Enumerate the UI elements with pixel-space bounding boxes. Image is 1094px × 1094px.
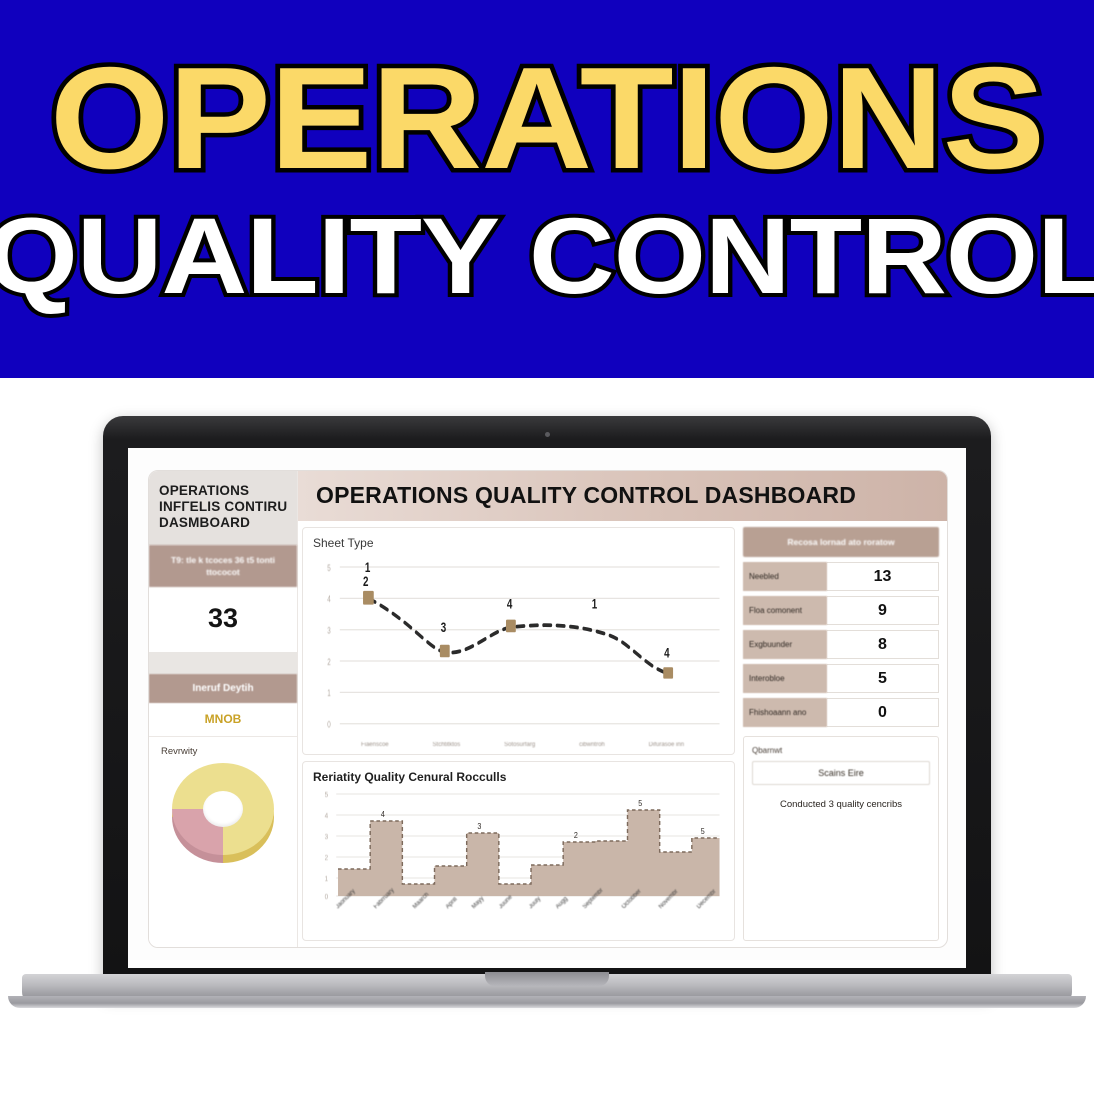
laptop-lid: OPERATIONS INFΓELIS CONTIRU DASMBOARD T9…: [103, 416, 991, 996]
x-tick: cibwntroh: [579, 742, 605, 748]
svg-text:4: 4: [381, 810, 385, 819]
metric-row[interactable]: Floa comonent 9: [743, 596, 939, 625]
dashboard-sidebar: OPERATIONS INFΓELIS CONTIRU DASMBOARD T9…: [149, 471, 298, 947]
area-chart-card[interactable]: Reriatity Quality Cenural Rocculls: [302, 761, 735, 941]
svg-text:2: 2: [325, 855, 329, 862]
donut-chart-title: Revrwity: [149, 737, 297, 759]
area-chart-title: Reriatity Quality Cenural Rocculls: [313, 770, 724, 784]
x-tick: Sotosurfarg: [504, 742, 535, 748]
laptop-mockup: OPERATIONS INFΓELIS CONTIRU DASMBOARD T9…: [0, 378, 1094, 1094]
metric-label: Floa comonent: [743, 596, 827, 625]
charts-column: Sheet Type: [298, 521, 741, 947]
metric-value: 5: [827, 664, 939, 693]
svg-text:1: 1: [592, 596, 598, 612]
dashboard-main: OPERATIONS QUALITY CONTROL DASHBOARD She…: [298, 471, 947, 947]
x-tick: Difurasoe inn: [649, 742, 684, 748]
laptop-notch: [485, 972, 609, 986]
donut-chart[interactable]: [149, 759, 297, 947]
sidebar-sub-value: MNOB: [149, 703, 297, 737]
svg-text:0: 0: [325, 894, 329, 901]
metric-row[interactable]: Neebled 13: [743, 562, 939, 591]
banner-headline-secondary: QUALITY CONTROL: [0, 202, 1094, 310]
svg-text:4: 4: [327, 594, 331, 604]
svg-text:5: 5: [325, 792, 329, 799]
x-tick: Stchtitktos: [433, 742, 461, 748]
line-chart-x-labels: Fiaenscoe Stchtitktos Sotosurfarg cibwnt…: [313, 740, 724, 748]
svg-text:3: 3: [441, 620, 447, 636]
area-chart-plot[interactable]: 5 4 3 2 1 0: [313, 786, 724, 906]
metric-value: 8: [827, 630, 939, 659]
svg-text:5: 5: [701, 827, 705, 836]
dashboard-window: OPERATIONS INFΓELIS CONTIRU DASMBOARD T9…: [148, 470, 948, 948]
scan-button[interactable]: Scains Eire: [752, 761, 930, 785]
svg-text:2: 2: [574, 831, 578, 840]
metric-row[interactable]: Fhishoaann ano 0: [743, 698, 939, 727]
metric-label: Interobloe: [743, 664, 827, 693]
area-chart-x-labels: Jaonuary Fabrruary Maarch Aprill Mayy Ju…: [313, 906, 724, 934]
line-chart-title: Sheet Type: [313, 536, 724, 550]
donut-chart-hole: [203, 791, 243, 827]
observation-note: Conducted 3 quality cencribs: [752, 799, 930, 810]
svg-text:2: 2: [363, 573, 369, 589]
svg-text:0: 0: [327, 719, 330, 729]
metric-row[interactable]: Exgbuunder 8: [743, 630, 939, 659]
banner-headline-primary: OPERATIONS: [0, 46, 1094, 191]
svg-text:1: 1: [327, 688, 330, 698]
page-title: OPERATIONS QUALITY CONTROL DASHBOARD: [316, 482, 947, 509]
metric-value: 13: [827, 562, 939, 591]
laptop-base: [22, 974, 1072, 1004]
observation-label: Qbarnwt: [752, 746, 930, 755]
svg-text:4: 4: [325, 813, 329, 820]
title-banner: OPERATIONS QUALITY CONTROL: [0, 0, 1094, 378]
metrics-panel-header: Recosa lornad ato roratow: [743, 527, 939, 557]
metric-value: 0: [827, 698, 939, 727]
svg-text:1: 1: [325, 876, 329, 883]
sidebar-divider: [149, 652, 297, 674]
laptop-screen: OPERATIONS INFΓELIS CONTIRU DASMBOARD T9…: [128, 448, 966, 968]
x-tick: Fiaenscoe: [361, 742, 389, 748]
observation-card: Qbarnwt Scains Eire Conducted 3 quality …: [743, 736, 939, 941]
metric-row[interactable]: Interobloe 5: [743, 664, 939, 693]
metric-value: 9: [827, 596, 939, 625]
metric-label: Exgbuunder: [743, 630, 827, 659]
sidebar-section-header: Ineruf Deytih: [149, 674, 297, 703]
sidebar-title: OPERATIONS INFΓELIS CONTIRU DASMBOARD: [149, 471, 297, 545]
svg-text:3: 3: [327, 625, 330, 635]
svg-text:5: 5: [327, 563, 330, 573]
svg-text:4: 4: [507, 596, 513, 612]
svg-text:4: 4: [664, 645, 670, 661]
svg-text:3: 3: [325, 834, 329, 841]
line-chart-card[interactable]: Sheet Type: [302, 527, 735, 755]
svg-text:2: 2: [327, 657, 330, 667]
metric-label: Neebled: [743, 562, 827, 591]
line-chart-plot[interactable]: 5 4 3 2 1 0: [313, 552, 724, 740]
dashboard-header: OPERATIONS QUALITY CONTROL DASHBOARD: [298, 471, 947, 521]
metrics-column: Recosa lornad ato roratow Neebled 13 Flo…: [741, 521, 947, 947]
sidebar-kpi-value: 33: [149, 587, 297, 652]
svg-text:3: 3: [477, 822, 481, 831]
svg-text:5: 5: [638, 799, 642, 808]
webcam-icon: [545, 432, 550, 437]
sidebar-kpi-band-label: T9: tle k tcoces 36 t5 tonti ttococot: [149, 545, 297, 587]
metric-label: Fhishoaann ano: [743, 698, 827, 727]
